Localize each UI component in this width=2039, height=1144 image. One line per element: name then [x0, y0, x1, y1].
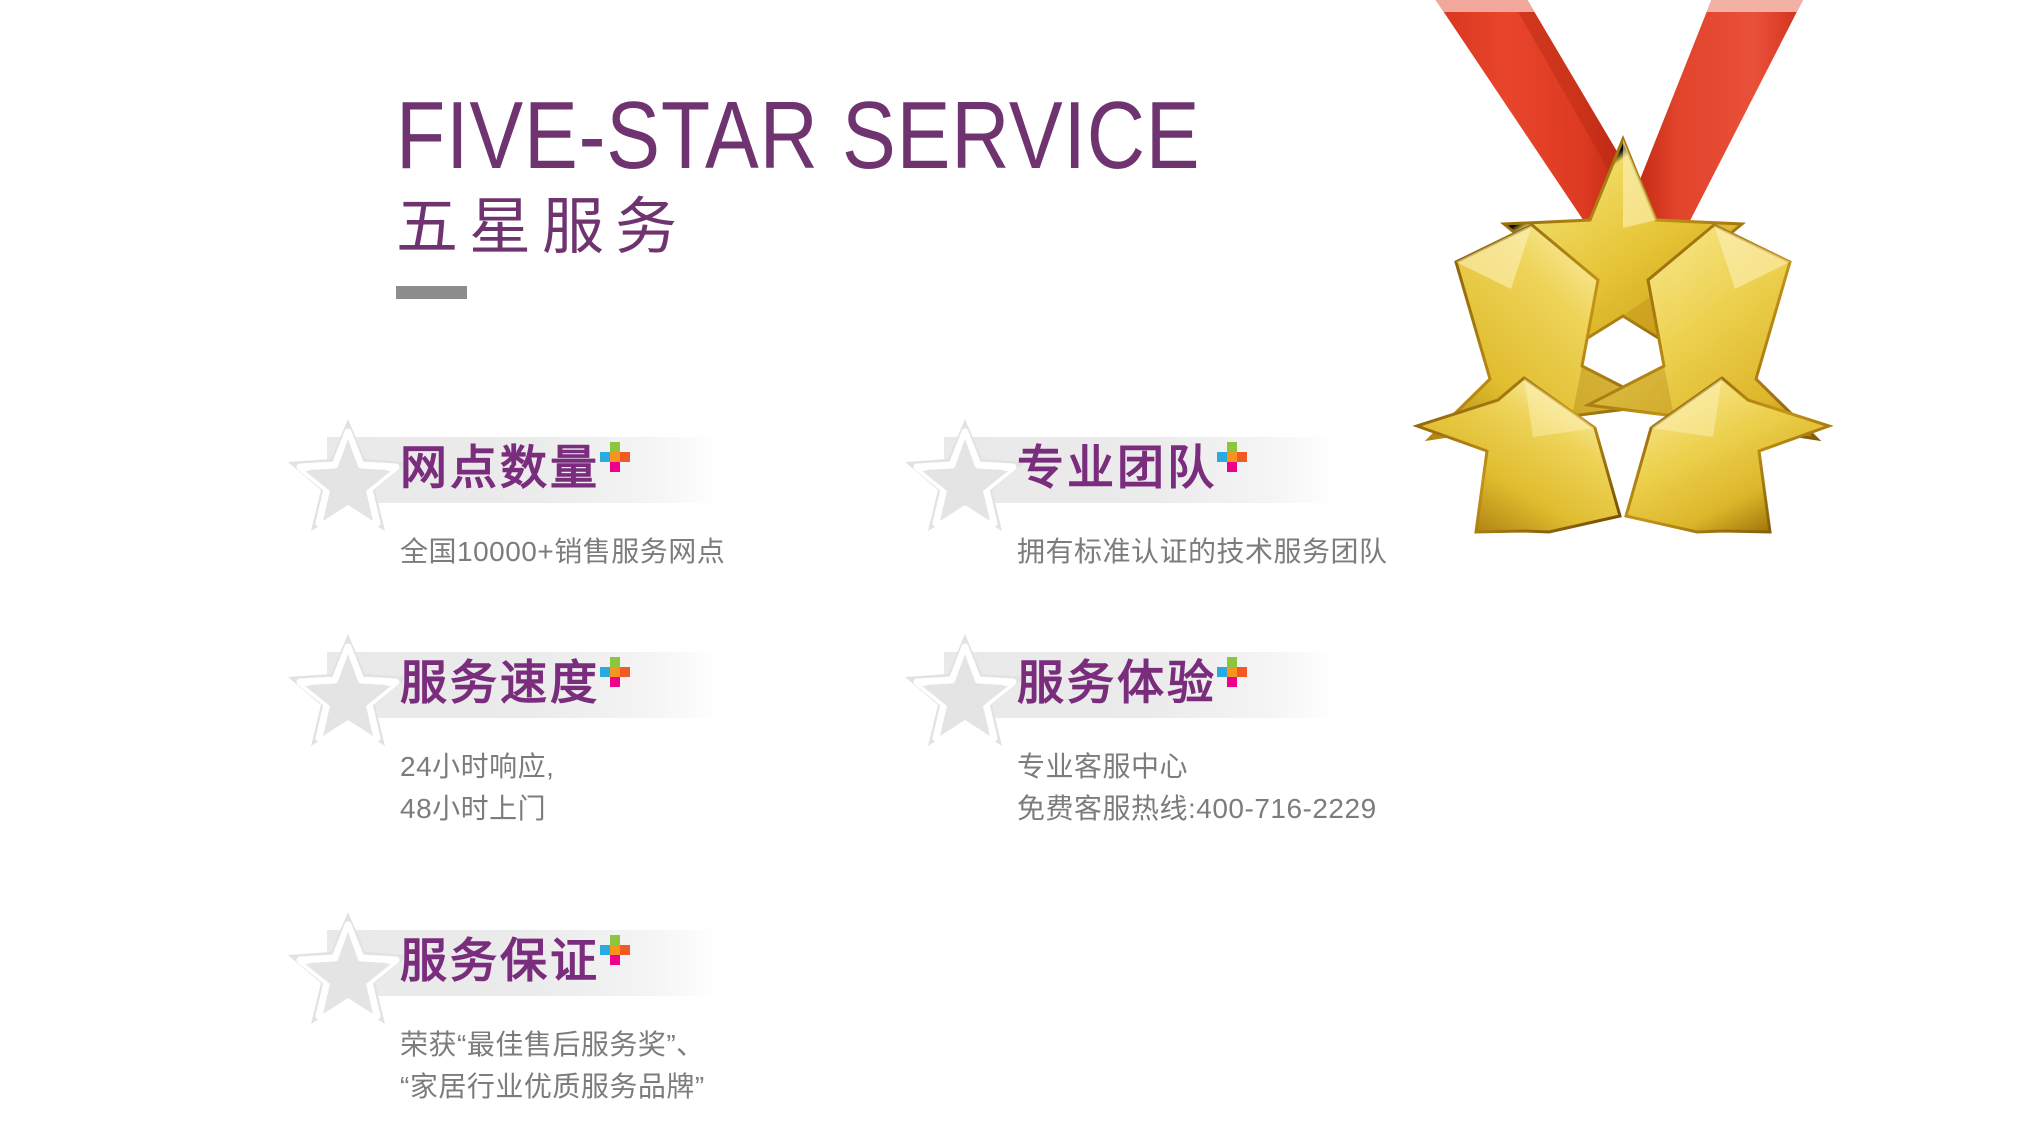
feature-item-professional-team: 专业团队 拥有标准认证的技术服务团队: [904, 415, 1524, 573]
page-title-chinese: 五星服务: [396, 192, 1354, 264]
feature-desc-line: “家居行业优质服务品牌”: [400, 1066, 907, 1108]
feature-title: 专业团队: [1017, 433, 1217, 503]
title-underline-rule: [396, 286, 467, 299]
outline-star-icon: [904, 630, 1026, 746]
pixel-plus-icon: [600, 442, 630, 472]
feature-title: 服务速度: [400, 648, 600, 718]
feature-title: 网点数量: [400, 433, 600, 503]
page-title-block: FIVE-STAR SERVICE 五星服务: [396, 88, 1354, 299]
slide-canvas: FIVE-STAR SERVICE 五星服务: [0, 0, 2039, 1144]
feature-heading: 网点数量: [287, 415, 907, 525]
feature-desc-line: 荣获“最佳售后服务奖”、: [400, 1024, 907, 1066]
pixel-plus-icon: [600, 657, 630, 687]
feature-heading: 服务速度: [287, 630, 907, 740]
outline-star-icon: [287, 908, 409, 1024]
feature-desc-line: 免费客服热线:400-716-2229: [1017, 788, 1524, 830]
feature-item-service-speed: 服务速度 24小时响应, 48小时上门: [287, 630, 907, 830]
feature-desc-line: 24小时响应,: [400, 746, 907, 788]
pixel-plus-icon: [600, 935, 630, 965]
feature-heading: 专业团队: [904, 415, 1524, 525]
feature-item-service-experience: 服务体验 专业客服中心 免费客服热线:400-716-2229: [904, 630, 1524, 830]
feature-desc-line: 48小时上门: [400, 788, 907, 830]
feature-item-service-guarantee: 服务保证 荣获“最佳售后服务奖”、 “家居行业优质服务品牌”: [287, 908, 907, 1108]
pixel-plus-icon: [1217, 442, 1247, 472]
feature-item-branch-count: 网点数量 全国10000+销售服务网点: [287, 415, 907, 573]
feature-title: 服务体验: [1017, 648, 1217, 718]
feature-heading: 服务体验: [904, 630, 1524, 740]
feature-desc-line: 全国10000+销售服务网点: [400, 531, 907, 573]
feature-title: 服务保证: [400, 926, 600, 996]
outline-star-icon: [287, 415, 409, 531]
outline-star-icon: [287, 630, 409, 746]
feature-desc-line: 专业客服中心: [1017, 746, 1524, 788]
feature-desc-line: 拥有标准认证的技术服务团队: [1017, 531, 1524, 573]
outline-star-icon: [904, 415, 1026, 531]
page-title-english: FIVE-STAR SERVICE: [396, 88, 1200, 184]
pixel-plus-icon: [1217, 657, 1247, 687]
feature-heading: 服务保证: [287, 908, 907, 1018]
